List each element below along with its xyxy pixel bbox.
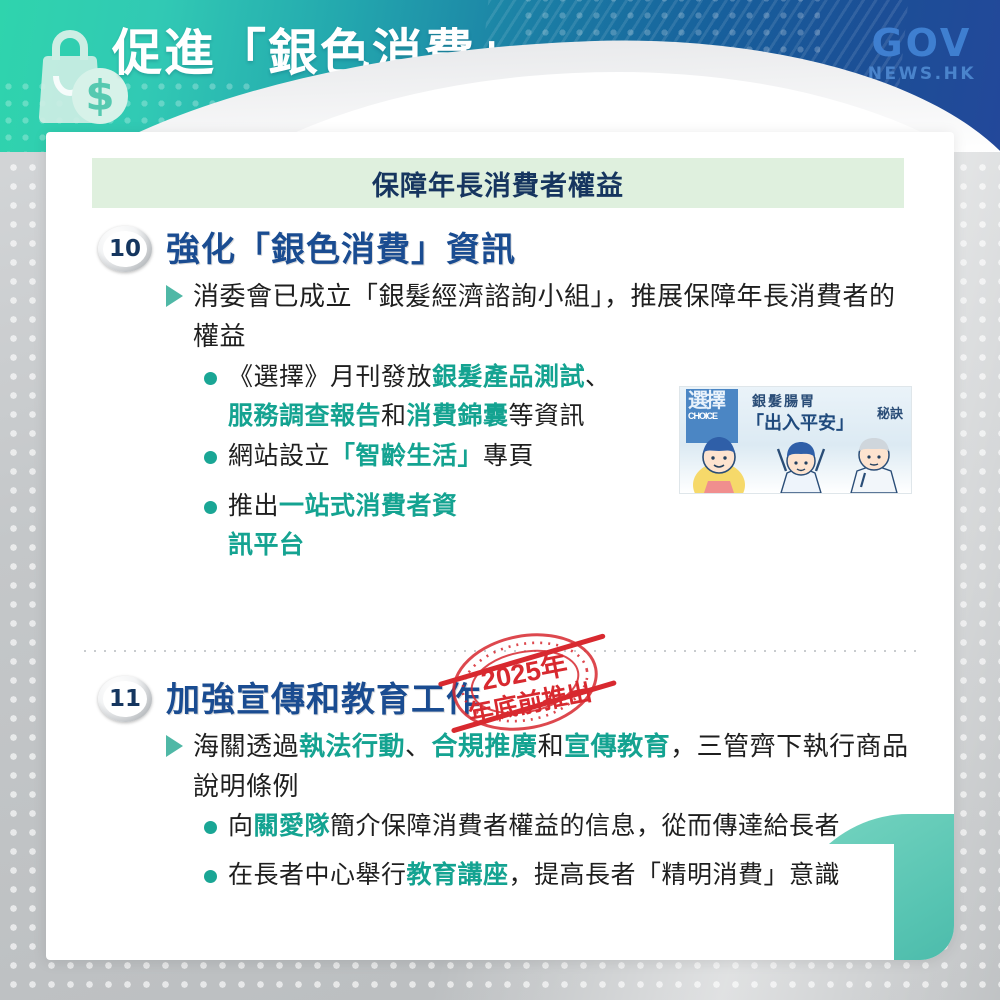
item-number-badge: 11 [98,676,152,722]
item-number-label: 11 [103,681,147,717]
highlighted-term: 執法行動 [299,731,405,761]
item-number-label: 10 [103,231,147,267]
triangle-bullet-icon [166,285,183,307]
plain-text: 向 [228,812,254,840]
highlighted-term: 一站式 [279,492,356,520]
sub-bullet-text: 推出一站式消費者資訊平台 [228,487,464,565]
sub-bullet: 推出一站式消費者資訊平台 [204,487,464,565]
thumbnail-caption-top: 銀髮腸胃 [752,391,816,411]
sub-bullet-text: 網站設立「智齡生活」專頁 [228,437,534,476]
arrow-bullet-text: 海關透過執法行動、合規推廣和宣傳教育，三管齊下執行商品說明條例 [193,726,926,806]
item-number-badge: 10 [98,226,152,272]
dot-bullet-icon [204,372,217,385]
plain-text: 消委會已成立「銀髮經濟諮詢小組」，推展保障年長消費者的權益 [193,281,896,351]
page-header: $ 促進「銀色消費」 GOV NEWS.HK [0,0,1000,152]
dot-bullet-icon [204,501,217,514]
plain-text: 推出 [228,492,279,520]
section-banner-label: 保障年長消費者權益 [372,164,624,203]
plain-text: ，提高長者「精明消費」意識 [509,861,841,889]
sub-bullet: 網站設立「智齡生活」專頁 [204,437,634,476]
gov-news-hk-logo[interactable]: GOV NEWS.HK [868,24,976,83]
sub-bullet: 向關愛隊簡介保障消費者權益的信息，從而傳達給長者 [204,807,944,846]
svg-text:$: $ [85,71,114,120]
magazine-title: 選擇 [688,392,736,411]
plain-text: 簡介保障消費者權益的信息，從而傳達給長者 [330,812,840,840]
arrow-bullet: 消委會已成立「銀髮經濟諮詢小組」，推展保障年長消費者的權益 [166,276,896,356]
illustration-woman-icon [688,431,750,493]
illustration-child-icon [772,437,830,493]
dot-bullet-icon [204,451,217,464]
highlighted-term: 教育講座 [407,861,509,889]
arrow-bullet: 海關透過執法行動、合規推廣和宣傳教育，三管齊下執行商品說明條例 [166,726,926,806]
plain-text: 海關透過 [193,731,299,761]
plain-text: 、 [585,363,611,391]
highlighted-term: 關愛隊 [254,812,331,840]
sub-bullet: 在長者中心舉行教育講座，提高長者「精明消費」意識 [204,856,904,895]
highlighted-term: 宣傳教育 [564,731,670,761]
highlighted-term: 服務調查報告 [228,402,381,430]
dot-bullet-icon [204,870,217,883]
plain-text: 等資訊 [509,402,586,430]
content-card: 保障年長消費者權益 10 強化「銀色消費」資訊 消委會已成立「銀髮經濟諮詢小組」… [46,132,954,960]
thumbnail-caption-side: 秘訣 [877,403,903,422]
section-banner: 保障年長消費者權益 [92,158,904,208]
highlighted-term: 「智齡生活」 [330,442,483,470]
brand-news-text: NEWS.HK [868,66,976,83]
choice-magazine-thumbnail[interactable]: 選擇 CHOICE 銀髮腸胃 「出入平安」 秘訣 [679,386,912,494]
triangle-bullet-icon [166,735,183,757]
plain-text: 在長者中心舉行 [228,861,407,889]
highlighted-term: 銀髮產品測試 [432,363,585,391]
plain-text: 、 [405,731,432,761]
highlighted-term: 消費錦囊 [407,402,509,430]
list-item: 10 強化「銀色消費」資訊 消委會已成立「銀髮經濟諮詢小組」，推展保障年長消費者… [46,224,954,278]
magazine-subtitle: CHOICE [688,411,736,421]
sub-bullet-text: 向關愛隊簡介保障消費者權益的信息，從而傳達給長者 [228,807,840,846]
illustration-elder-icon [843,433,905,493]
plain-text: 專頁 [483,442,534,470]
dot-bullet-icon [204,821,217,834]
sub-bullet-text: 《選擇》月刊發放銀髮產品測試、服務調查報告和消費錦囊等資訊 [228,358,634,436]
item-title: 強化「銀色消費」資訊 [166,222,516,271]
plain-text: 網站設立 [228,442,330,470]
arrow-bullet-text: 消委會已成立「銀髮經濟諮詢小組」，推展保障年長消費者的權益 [193,276,896,356]
sub-bullet-text: 在長者中心舉行教育講座，提高長者「精明消費」意識 [228,856,840,895]
plain-text: 和 [381,402,407,430]
thumbnail-caption-main: 「出入平安」 [746,409,854,435]
plain-text: 《選擇》月刊發放 [228,363,432,391]
brand-gov-text: GOV [868,24,976,62]
sub-bullet: 《選擇》月刊發放銀髮產品測試、服務調查報告和消費錦囊等資訊 [204,358,634,436]
plain-text: 和 [538,731,565,761]
